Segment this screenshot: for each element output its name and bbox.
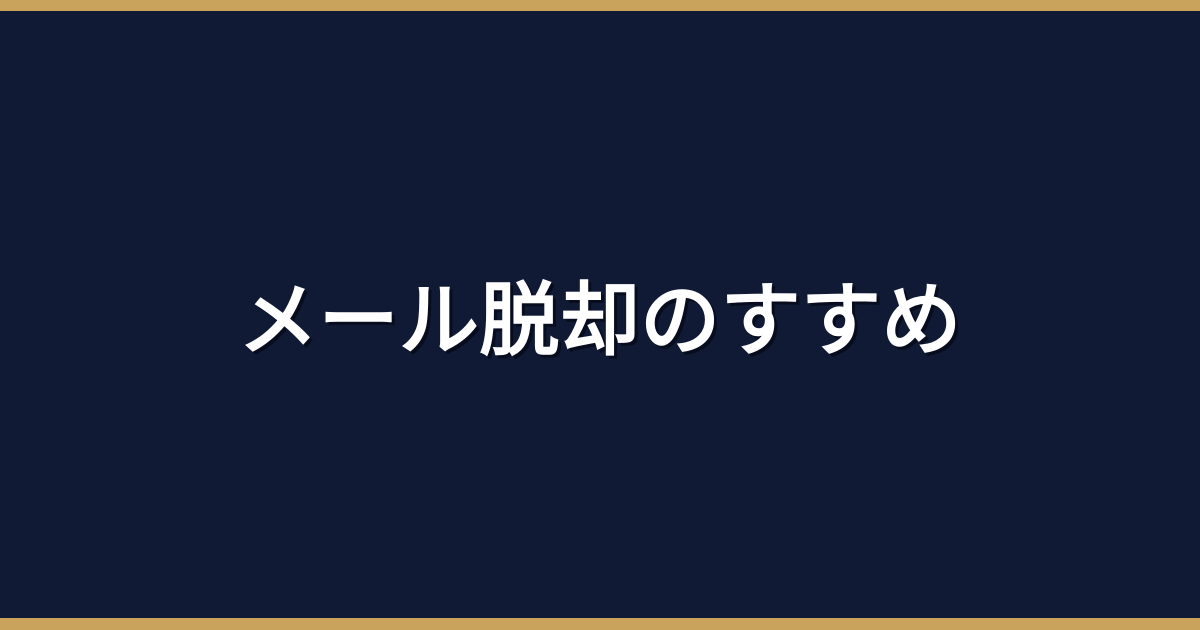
card-title: メール脱却のすすめ — [238, 274, 962, 368]
top-accent-bar — [0, 0, 1200, 11]
og-image-card: メール脱却のすすめ — [0, 0, 1200, 630]
bottom-accent-bar — [0, 618, 1200, 630]
card-body: メール脱却のすすめ — [0, 11, 1200, 618]
